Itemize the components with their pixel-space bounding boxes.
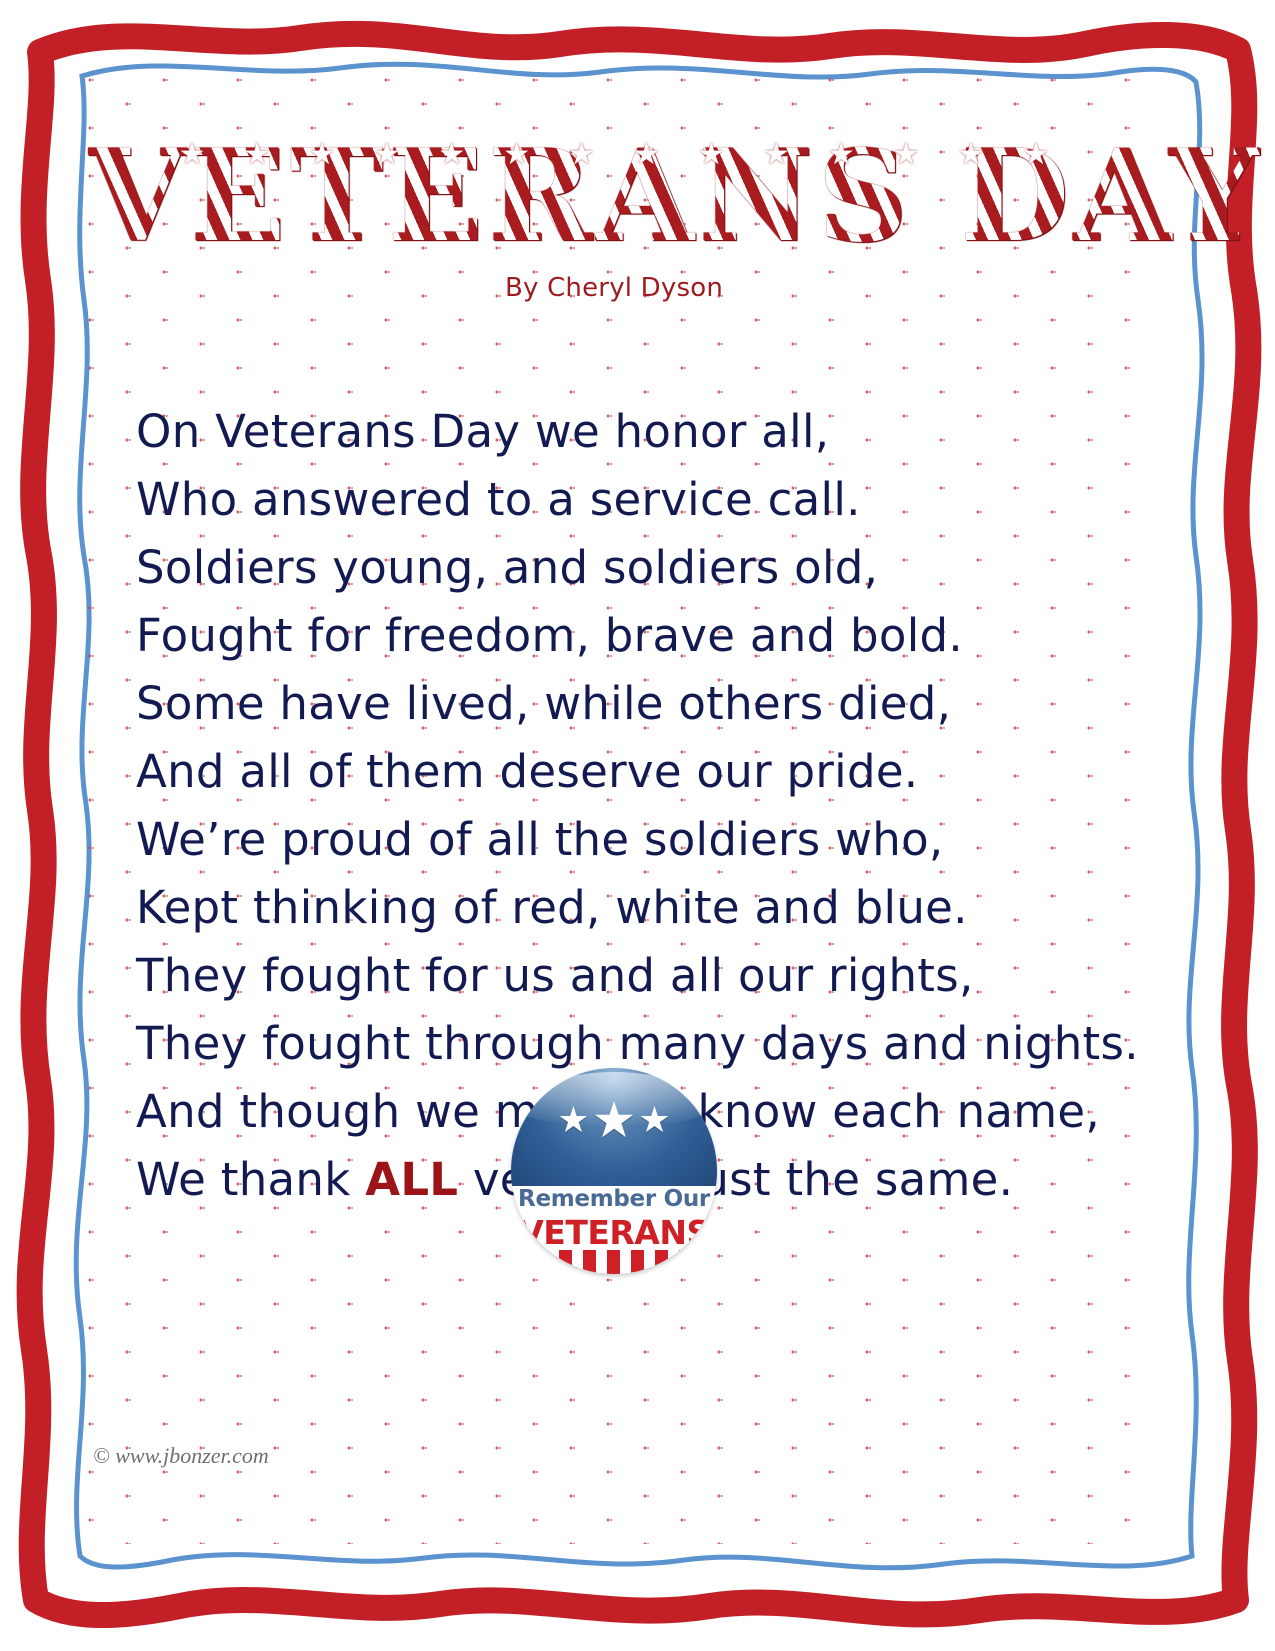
copyright-notice: © www.jbonzer.com bbox=[93, 1443, 269, 1469]
poster-content: VETERANS DAY ★★★★★★★★★★★★★★ By Cheryl Dy… bbox=[88, 78, 1140, 1544]
poem-line: Soldiers young, and soldiers old, bbox=[136, 534, 1136, 602]
poem-line: On Veterans Day we honor all, bbox=[136, 398, 1136, 466]
badge-line-1: Remember Our bbox=[511, 1186, 717, 1212]
star-icon: ★ bbox=[557, 1102, 589, 1138]
poem-line: Who answered to a service call. bbox=[136, 466, 1136, 534]
byline: By Cheryl Dyson bbox=[88, 273, 1140, 303]
poem-line: They fought for us and all our rights, bbox=[136, 942, 1136, 1010]
star-icon: ★ bbox=[638, 1102, 670, 1138]
poem-line: We’re proud of all the soldiers who, bbox=[136, 806, 1136, 874]
badge-line-2: VETERANS bbox=[511, 1213, 717, 1252]
veterans-day-poster: VETERANS DAY ★★★★★★★★★★★★★★ By Cheryl Dy… bbox=[0, 0, 1275, 1651]
poem-line: And all of them deserve our pride. bbox=[136, 738, 1136, 806]
remember-our-veterans-badge: ★★★ Remember Our VETERANS bbox=[511, 1068, 717, 1274]
badge-stars: ★★★ bbox=[511, 1102, 717, 1138]
badge-container: ★★★ Remember Our VETERANS bbox=[88, 1068, 1140, 1279]
badge-stripes bbox=[511, 1250, 717, 1274]
page-title: VETERANS DAY bbox=[88, 133, 1140, 259]
poem-line: Kept thinking of red, white and blue. bbox=[136, 874, 1136, 942]
page-title-text: VETERANS DAY bbox=[88, 133, 1263, 259]
star-icon: ★ bbox=[592, 1102, 637, 1138]
poem-line: Fought for freedom, brave and bold. bbox=[136, 602, 1136, 670]
poem-line: Some have lived, while others died, bbox=[136, 670, 1136, 738]
